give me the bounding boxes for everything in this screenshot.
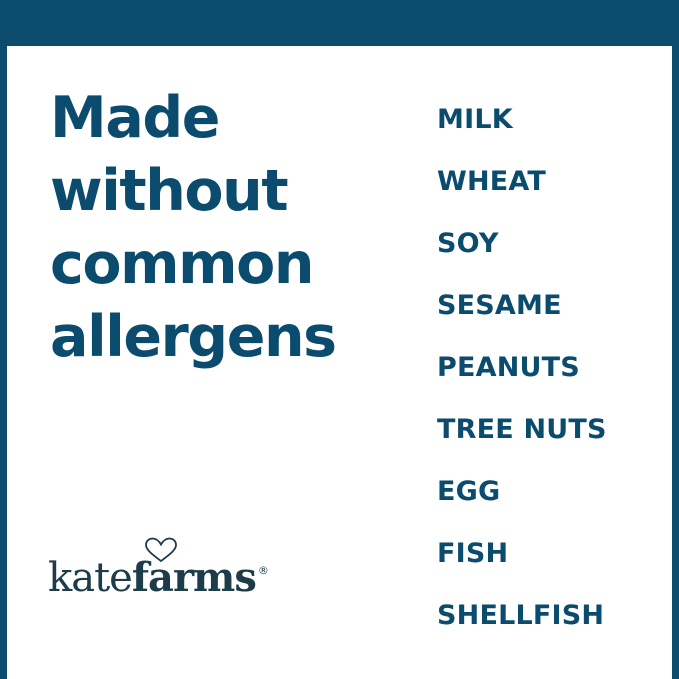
allergen-item-egg: EGG (437, 460, 667, 522)
allergen-item-wheat: WHEAT (437, 150, 667, 212)
allergen-item-tree-nuts: TREE NUTS (437, 398, 667, 460)
headline-line-3: common (50, 228, 400, 301)
logo-wordmark: katefarms (48, 558, 256, 598)
page-title: Made without common allergens (50, 82, 400, 374)
allergen-item-peanuts: PEANUTS (437, 336, 667, 398)
allergen-item-soy: SOY (437, 212, 667, 274)
allergen-poster: Made without common allergens MILK WHEAT… (0, 0, 679, 679)
left-border-bar (0, 46, 7, 679)
headline-line-2: without (50, 155, 400, 228)
heart-icon (144, 537, 178, 563)
allergen-item-milk: MILK (437, 88, 667, 150)
allergen-item-fish: FISH (437, 522, 667, 584)
top-border-bar (0, 0, 679, 46)
headline-line-1: Made (50, 82, 400, 155)
allergen-list: MILK WHEAT SOY SESAME PEANUTS TREE NUTS … (437, 88, 667, 646)
allergen-item-sesame: SESAME (437, 274, 667, 336)
brand-logo: katefarms ® (48, 558, 269, 598)
logo-kate: kate (48, 555, 132, 601)
headline-line-4: allergens (50, 301, 400, 374)
allergen-item-shellfish: SHELLFISH (437, 584, 667, 646)
registered-trademark-symbol: ® (258, 565, 269, 576)
right-border-bar (672, 46, 679, 679)
